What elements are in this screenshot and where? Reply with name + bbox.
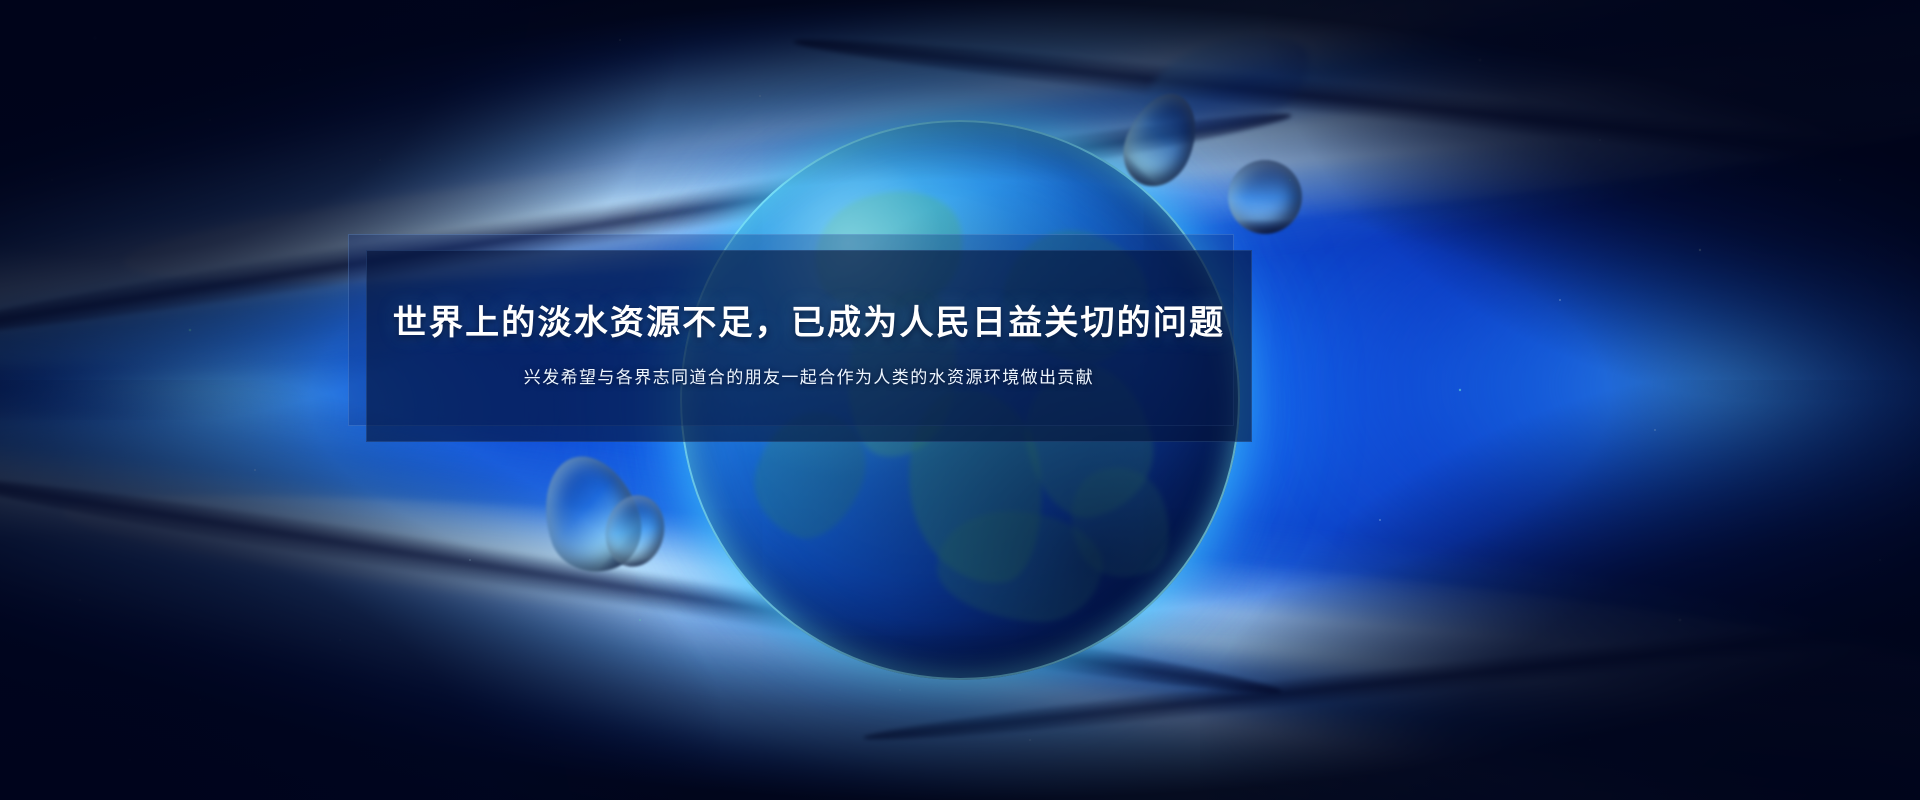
text-overlay: 世界上的淡水资源不足，已成为人民日益关切的问题 兴发希望与各界志同道合的朋友一起… [348, 234, 1234, 426]
banner-subheadline: 兴发希望与各界志同道合的朋友一起合作为人类的水资源环境做出贡献 [524, 367, 1094, 389]
vignette-bottom-left [0, 380, 720, 800]
vignette-bottom-right [1200, 380, 1920, 800]
vignette-top-right [1260, 0, 1920, 400]
hero-banner: 世界上的淡水资源不足，已成为人民日益关切的问题 兴发希望与各界志同道合的朋友一起… [0, 0, 1920, 800]
banner-headline: 世界上的淡水资源不足，已成为人民日益关切的问题 [393, 303, 1226, 344]
overlay-frame-inner: 世界上的淡水资源不足，已成为人民日益关切的问题 兴发希望与各界志同道合的朋友一起… [366, 250, 1252, 442]
